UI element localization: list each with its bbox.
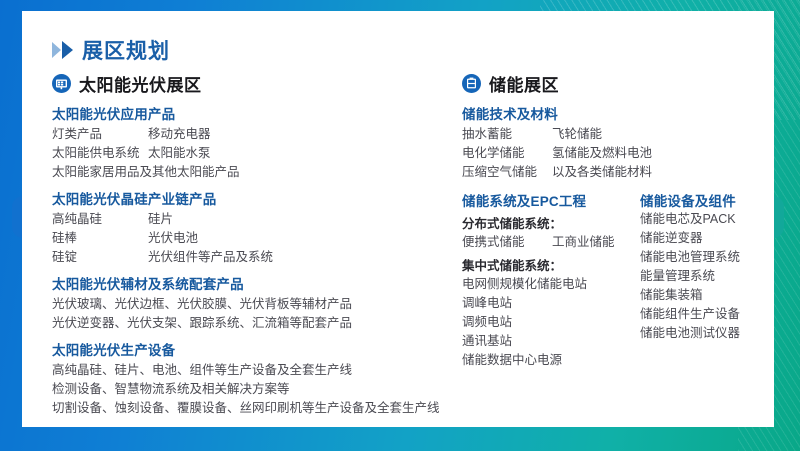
group-title: 储能技术及材料 bbox=[462, 103, 758, 123]
list-item: 灯类产品 移动充电器 bbox=[52, 125, 452, 144]
list-item: 储能电池测试仪器 bbox=[640, 324, 758, 343]
subsection-title: 分布式储能系统： bbox=[462, 213, 640, 232]
chevron-right-icon-light bbox=[52, 42, 61, 58]
list-item: 储能电芯及PACK bbox=[640, 210, 758, 229]
list-item: 压缩空气储能 以及各类储能材料 bbox=[462, 163, 758, 182]
item-label: 太阳能供电系统 bbox=[52, 144, 148, 163]
list-item: 切割设备、蚀刻设备、覆膜设备、丝网印刷机等生产设备及全套生产线 bbox=[52, 399, 452, 418]
list-item: 高纯晶硅、硅片、电池、组件等生产设备及全套生产线 bbox=[52, 361, 452, 380]
list-item: 便携式储能 工商业储能 bbox=[462, 233, 640, 252]
list-item: 硅锭 光伏组件等产品及系统 bbox=[52, 248, 452, 267]
zone-solar: 太阳能光伏展区 太阳能光伏应用产品 灯类产品 移动充电器 太阳能供电系统 太阳能… bbox=[38, 71, 452, 422]
solar-group-applications: 太阳能光伏应用产品 灯类产品 移动充电器 太阳能供电系统 太阳能水泵 太阳能家居… bbox=[52, 103, 452, 182]
item-label: 便携式储能 bbox=[462, 233, 552, 252]
page-title: 展区规划 bbox=[82, 35, 170, 65]
storage-subheadings-row: 储能系统及EPC工程 储能设备及组件 bbox=[462, 190, 758, 210]
list-item: 调频电站 bbox=[462, 313, 640, 332]
solar-panel-icon bbox=[52, 74, 71, 93]
group-title: 太阳能光伏应用产品 bbox=[52, 103, 452, 123]
list-item: 能量管理系统 bbox=[640, 267, 758, 286]
storage-two-column-body: 分布式储能系统： 便携式储能 工商业储能 集中式储能系统： 电网侧规模化储能电站… bbox=[462, 210, 758, 370]
list-item: 高纯晶硅 硅片 bbox=[52, 210, 452, 229]
item-label: 高纯晶硅 bbox=[52, 210, 148, 229]
item-label: 太阳能水泵 bbox=[148, 144, 211, 163]
item-label: 压缩空气储能 bbox=[462, 163, 552, 182]
list-item: 储能数据中心电源 bbox=[462, 351, 640, 370]
subsection-title: 集中式储能系统： bbox=[462, 255, 640, 274]
battery-storage-icon bbox=[462, 74, 481, 93]
list-item: 通讯基站 bbox=[462, 332, 640, 351]
item-label: 氢储能及燃料电池 bbox=[552, 144, 652, 163]
list-item: 储能电池管理系统 bbox=[640, 248, 758, 267]
zone-storage: 储能展区 储能技术及材料 抽水蓄能 飞轮储能 电化学储能 氢储能及燃料电池 bbox=[452, 71, 758, 422]
zone-solar-header: 太阳能光伏展区 bbox=[52, 71, 452, 96]
list-item: 储能组件生产设备 bbox=[640, 305, 758, 324]
group-title: 储能设备及组件 bbox=[640, 190, 736, 210]
storage-equipment-column: 储能电芯及PACK 储能逆变器 储能电池管理系统 能量管理系统 储能集装箱 储能… bbox=[640, 210, 758, 370]
solar-group-production-equipment: 太阳能光伏生产设备 高纯晶硅、硅片、电池、组件等生产设备及全套生产线 检测设备、… bbox=[52, 339, 452, 418]
list-item: 太阳能供电系统 太阳能水泵 bbox=[52, 144, 452, 163]
item-label: 飞轮储能 bbox=[552, 125, 602, 144]
list-item: 调峰电站 bbox=[462, 294, 640, 313]
list-item: 光伏逆变器、光伏支架、跟踪系统、汇流箱等配套产品 bbox=[52, 314, 452, 333]
item-label: 灯类产品 bbox=[52, 125, 148, 144]
item-label: 抽水蓄能 bbox=[462, 125, 552, 144]
zone-solar-title: 太阳能光伏展区 bbox=[79, 71, 202, 96]
content-card: 展区规划 bbox=[22, 11, 774, 427]
list-item: 抽水蓄能 飞轮储能 bbox=[462, 125, 758, 144]
double-chevron-icon-group bbox=[52, 41, 73, 59]
page-header: 展区规划 bbox=[52, 35, 758, 65]
slide-root: 展区规划 bbox=[0, 0, 800, 451]
item-label: 光伏电池 bbox=[148, 229, 198, 248]
storage-epc-column: 分布式储能系统： 便携式储能 工商业储能 集中式储能系统： 电网侧规模化储能电站… bbox=[462, 210, 640, 370]
list-item: 检测设备、智慧物流系统及相关解决方案等 bbox=[52, 380, 452, 399]
zone-storage-header: 储能展区 bbox=[462, 71, 758, 96]
item-label: 移动充电器 bbox=[148, 125, 211, 144]
item-label: 光伏组件等产品及系统 bbox=[148, 248, 273, 267]
group-title: 太阳能光伏生产设备 bbox=[52, 339, 452, 359]
item-label: 以及各类储能材料 bbox=[552, 163, 652, 182]
zone-storage-title: 储能展区 bbox=[489, 71, 559, 96]
storage-group-tech-materials: 储能技术及材料 抽水蓄能 飞轮储能 电化学储能 氢储能及燃料电池 压缩空气储能 … bbox=[462, 103, 758, 182]
solar-group-auxiliary: 太阳能光伏辅材及系统配套产品 光伏玻璃、光伏边框、光伏胶膜、光伏背板等辅材产品 … bbox=[52, 273, 452, 333]
item-label: 电化学储能 bbox=[462, 144, 552, 163]
group-title: 储能系统及EPC工程 bbox=[462, 190, 640, 210]
item-label: 硅棒 bbox=[52, 229, 148, 248]
list-item: 光伏玻璃、光伏边框、光伏胶膜、光伏背板等辅材产品 bbox=[52, 295, 452, 314]
item-label: 工商业储能 bbox=[552, 233, 615, 252]
zones-container: 太阳能光伏展区 太阳能光伏应用产品 灯类产品 移动充电器 太阳能供电系统 太阳能… bbox=[38, 71, 758, 422]
list-item: 储能逆变器 bbox=[640, 229, 758, 248]
solar-group-silicon-chain: 太阳能光伏晶硅产业链产品 高纯晶硅 硅片 硅棒 光伏电池 硅锭 光伏组件等产品及… bbox=[52, 188, 452, 267]
list-item: 硅棒 光伏电池 bbox=[52, 229, 452, 248]
list-item: 电化学储能 氢储能及燃料电池 bbox=[462, 144, 758, 163]
group-title: 太阳能光伏辅材及系统配套产品 bbox=[52, 273, 452, 293]
item-label: 硅片 bbox=[148, 210, 173, 229]
list-item: 电网侧规模化储能电站 bbox=[462, 275, 640, 294]
list-item: 太阳能家居用品及其他太阳能产品 bbox=[52, 163, 452, 182]
group-title: 太阳能光伏晶硅产业链产品 bbox=[52, 188, 452, 208]
chevron-right-icon-dark bbox=[62, 41, 73, 59]
item-label: 硅锭 bbox=[52, 248, 148, 267]
list-item: 储能集装箱 bbox=[640, 286, 758, 305]
